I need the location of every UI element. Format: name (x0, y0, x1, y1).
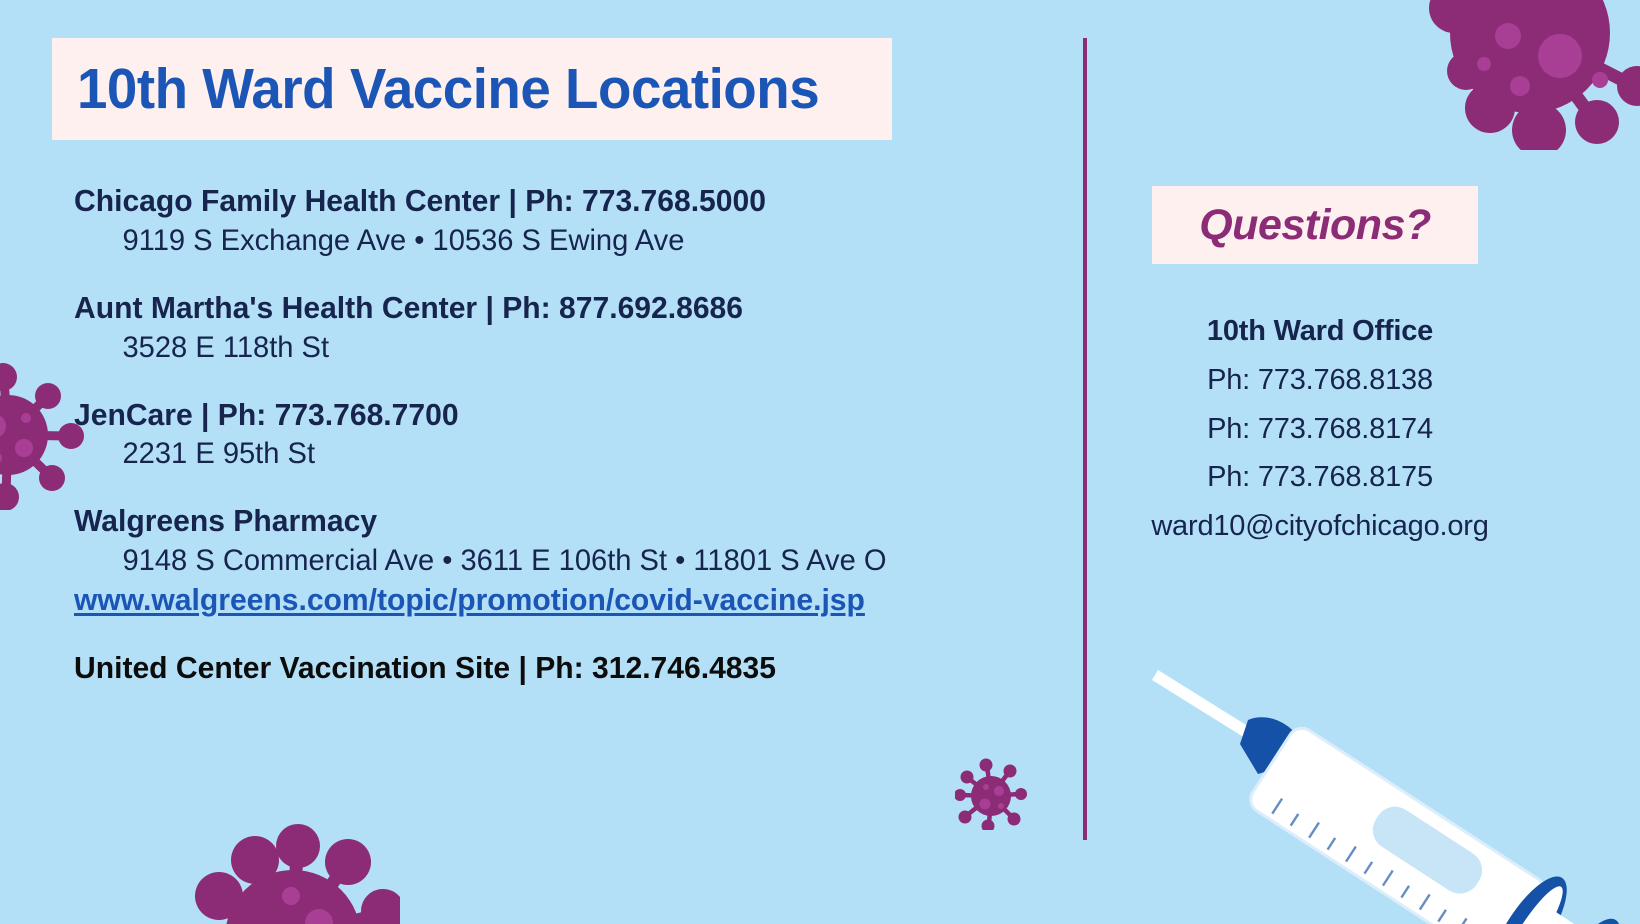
location-name: Walgreens Pharmacy (74, 502, 1025, 541)
list-item: Aunt Martha's Health Center | Ph: 877.69… (74, 289, 1054, 367)
location-list: Chicago Family Health Center | Ph: 773.7… (74, 182, 1054, 688)
title-banner: 10th Ward Vaccine Locations (52, 38, 892, 140)
list-item: Walgreens Pharmacy 9148 S Commercial Ave… (74, 502, 1054, 620)
office-phone: Ph: 773.768.8175 (1090, 453, 1550, 502)
location-address: 2231 E 95th St (74, 434, 1025, 473)
list-item: JenCare | Ph: 773.768.7700 2231 E 95th S… (74, 396, 1054, 474)
vertical-divider (1083, 38, 1087, 840)
office-title: 10th Ward Office (1090, 308, 1550, 356)
location-name: Aunt Martha's Health Center | Ph: 877.69… (74, 289, 1025, 328)
questions-label: Questions? (1199, 201, 1431, 250)
walgreens-vaccine-link[interactable]: www.walgreens.com/topic/promotion/covid-… (74, 580, 865, 620)
location-name: Chicago Family Health Center | Ph: 773.7… (74, 182, 1025, 221)
contact-block: 10th Ward Office Ph: 773.768.8138 Ph: 77… (1090, 308, 1550, 551)
virus-icon (955, 758, 1027, 830)
office-phone: Ph: 773.768.8174 (1090, 405, 1550, 454)
questions-banner: Questions? (1152, 186, 1478, 264)
location-name: United Center Vaccination Site | Ph: 312… (74, 649, 1025, 688)
virus-icon (185, 818, 400, 924)
location-address: 3528 E 118th St (74, 328, 1025, 367)
location-address: 9119 S Exchange Ave • 10536 S Ewing Ave (74, 221, 1025, 260)
list-item: Chicago Family Health Center | Ph: 773.7… (74, 182, 1054, 260)
location-name: JenCare | Ph: 773.768.7700 (74, 396, 1025, 435)
list-item: United Center Vaccination Site | Ph: 312… (74, 649, 1054, 688)
vaccine-locations-flyer: 10th Ward Vaccine Locations Chicago Fami… (0, 0, 1640, 924)
virus-icon (1398, 0, 1640, 150)
office-email: ward10@cityofchicago.org (1090, 502, 1550, 551)
office-phone: Ph: 773.768.8138 (1090, 356, 1550, 405)
location-address: 9148 S Commercial Ave • 3611 E 106th St … (74, 541, 1025, 580)
syringe-icon (1140, 648, 1640, 924)
page-title: 10th Ward Vaccine Locations (52, 56, 819, 122)
